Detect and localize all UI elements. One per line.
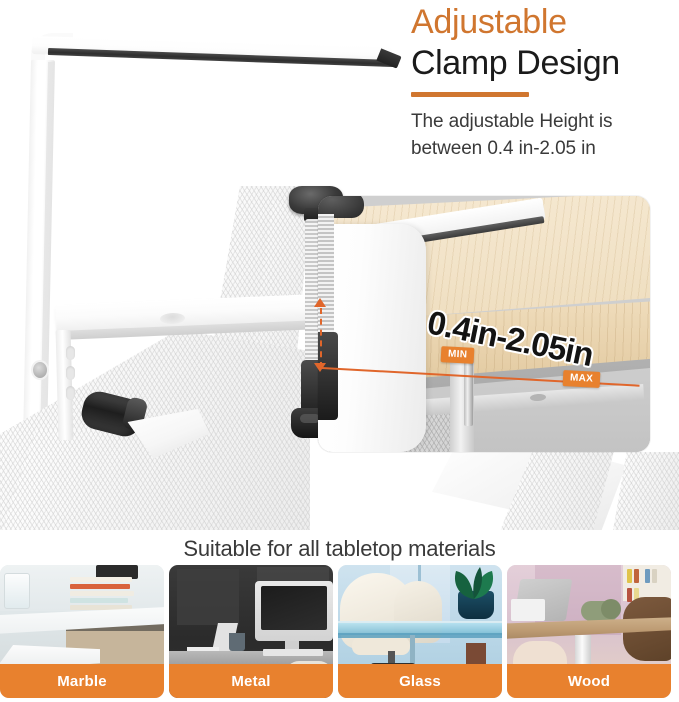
max-tag: MAX [563,370,601,388]
material-label-marble: Marble [0,664,164,698]
header-title-main: Clamp Design [411,42,679,84]
header-subtitle: The adjustable Height is between 0.4 in-… [411,108,679,162]
infographic-root: 0.4in-2.05in MIN MAX Adjustable Clamp De… [0,0,679,702]
materials-heading: Suitable for all tabletop materials [0,536,679,562]
measure-dashed-line [320,308,322,368]
marble-book-stack [70,577,136,609]
header-text-block: Adjustable Clamp Design The adjustable H… [411,2,679,162]
header-accent-rule [411,92,529,97]
pivot-screw-icon [33,362,47,378]
header-title-accent: Adjustable [411,2,679,42]
materials-thumbnail-row: Marble Metal [0,565,679,702]
wood-scene-books [627,569,669,583]
clamp-bracket-slots [62,340,84,418]
material-card-metal[interactable]: Metal [169,565,333,698]
mesh-fabric-panel-far-right [612,452,679,530]
material-card-marble[interactable]: Marble [0,565,164,698]
glass-scene-plant-icon [450,567,498,607]
min-tag: MIN [441,346,475,364]
material-label-glass: Glass [338,664,502,698]
inset-screw-rod [464,356,473,426]
material-card-glass[interactable]: Glass [338,565,502,698]
material-card-wood[interactable]: Wood [507,565,671,698]
thumb-screw-base-highlight [300,414,320,423]
measure-arrow-up-icon [314,298,326,307]
material-label-metal: Metal [169,664,333,698]
material-label-wood: Wood [507,664,671,698]
